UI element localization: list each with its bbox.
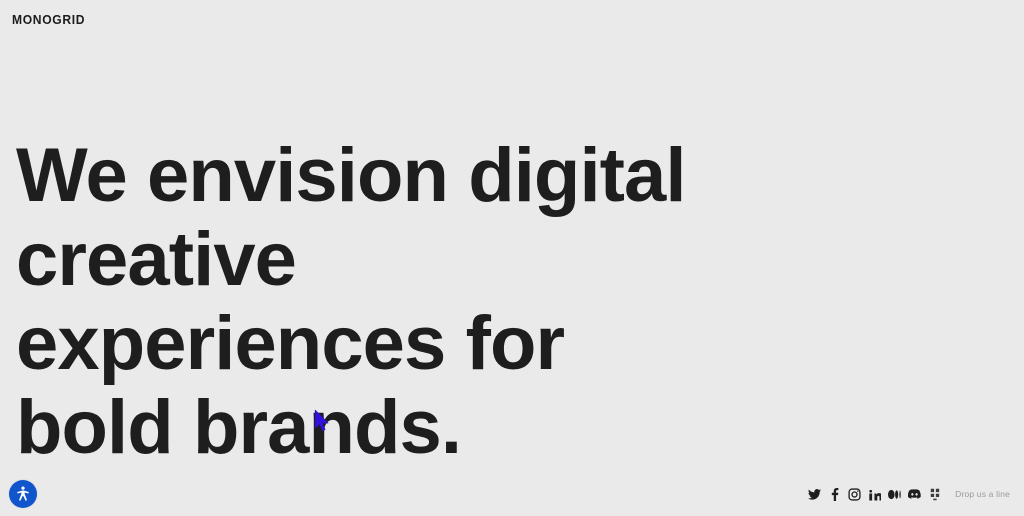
site-header: MONOGRID xyxy=(0,0,1024,38)
heading-line-4: bold brands. xyxy=(16,386,976,470)
discord-icon[interactable] xyxy=(908,488,921,501)
medium-icon[interactable] xyxy=(888,488,901,501)
linkedin-icon[interactable] xyxy=(868,488,881,501)
accessibility-button[interactable] xyxy=(9,480,37,508)
twitter-icon[interactable] xyxy=(808,488,821,501)
social-links xyxy=(808,488,941,501)
instagram-icon[interactable] xyxy=(848,488,861,501)
facebook-icon[interactable] xyxy=(828,488,841,501)
dribbble-icon[interactable] xyxy=(928,488,941,501)
brand-logo[interactable]: MONOGRID xyxy=(12,13,85,26)
heading-line-1: We envision digital xyxy=(16,134,976,218)
heading-line-3: experiences for xyxy=(16,302,976,386)
site-footer: Drop us a line xyxy=(0,478,1024,516)
hero-section: We envision digital creative experiences… xyxy=(0,0,1024,478)
page-title: We envision digital creative experiences… xyxy=(16,134,976,470)
accessibility-person-icon xyxy=(14,485,32,503)
contact-link[interactable]: Drop us a line xyxy=(955,489,1010,499)
heading-line-2: creative xyxy=(16,218,976,302)
